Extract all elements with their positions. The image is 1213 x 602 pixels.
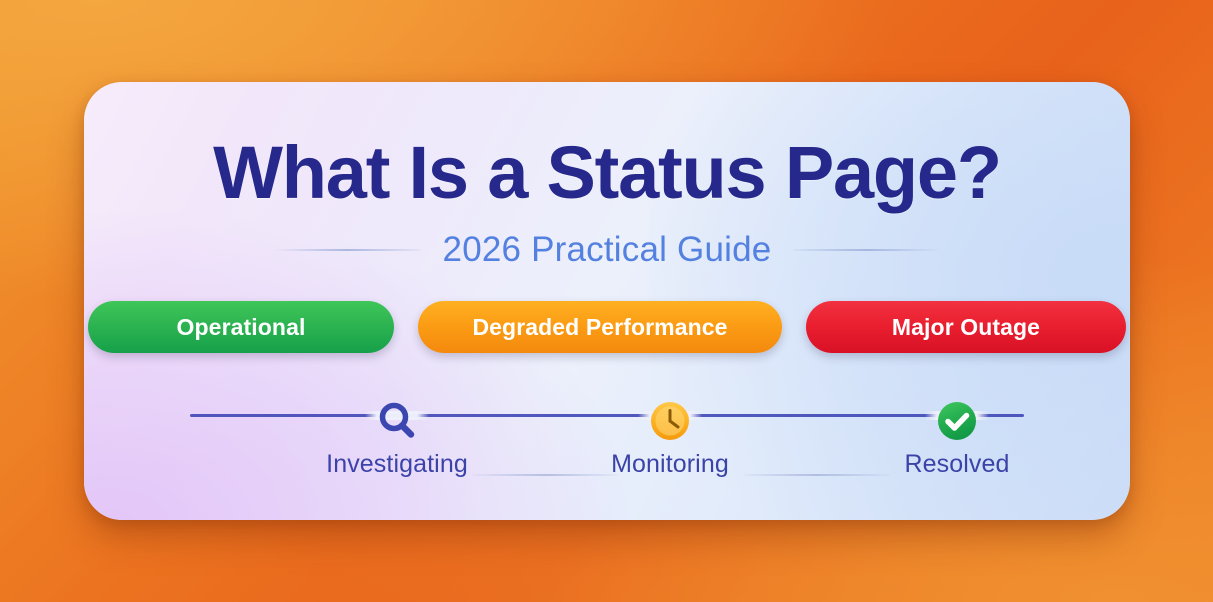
timeline-label-rule-2 — [744, 474, 890, 476]
infographic-canvas: What Is a Status Page? 2026 Practical Gu… — [0, 0, 1213, 602]
status-badge-degraded-performance[interactable]: Degraded Performance — [418, 301, 782, 353]
timeline-step-label: Investigating — [322, 450, 472, 479]
clock-icon — [647, 398, 693, 444]
subtitle-rule-right — [793, 249, 941, 251]
status-badge-major-outage[interactable]: Major Outage — [806, 301, 1126, 353]
incident-timeline: Investigating — [84, 398, 1130, 508]
status-page-card: What Is a Status Page? 2026 Practical Gu… — [84, 82, 1130, 520]
timeline-step-monitoring[interactable]: Monitoring — [595, 398, 745, 479]
subtitle-rule-left — [273, 249, 421, 251]
timeline-step-label: Monitoring — [595, 450, 745, 479]
subtitle-row: 2026 Practical Guide — [84, 230, 1130, 270]
timeline-step-resolved[interactable]: Resolved — [882, 398, 1032, 479]
status-badge-operational[interactable]: Operational — [88, 301, 394, 353]
card-content: What Is a Status Page? 2026 Practical Gu… — [84, 82, 1130, 520]
page-subtitle: 2026 Practical Guide — [443, 230, 772, 270]
check-circle-icon — [934, 398, 980, 444]
timeline-step-investigating[interactable]: Investigating — [322, 398, 472, 479]
magnifier-icon — [374, 398, 420, 444]
page-title: What Is a Status Page? — [84, 136, 1130, 210]
status-pill-group: Operational Degraded Performance Major O… — [84, 301, 1130, 353]
timeline-step-label: Resolved — [882, 450, 1032, 479]
